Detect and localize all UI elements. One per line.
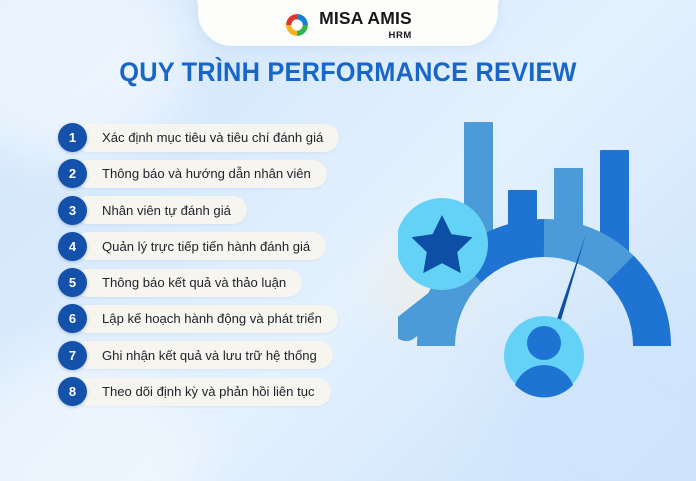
step-pill: Lập kế hoạch hành động và phát triển bbox=[74, 305, 338, 333]
list-item: 4 Quản lý trực tiếp tiến hành đánh giá bbox=[58, 230, 398, 263]
list-item: 3 Nhân viên tự đánh giá bbox=[58, 194, 398, 227]
step-pill: Thông báo và hướng dẫn nhân viên bbox=[74, 160, 327, 188]
step-pill: Ghi nhận kết quả và lưu trữ hệ thống bbox=[74, 341, 333, 369]
brand-banner: MISA AMIS HRM bbox=[198, 0, 498, 46]
list-item: 7 Ghi nhận kết quả và lưu trữ hệ thống bbox=[58, 339, 398, 372]
list-item: 2 Thông báo và hướng dẫn nhân viên bbox=[58, 157, 398, 190]
infographic-poster: MISA AMIS HRM QUY TRÌNH PERFORMANCE REVI… bbox=[0, 0, 696, 481]
step-label: Xác định mục tiêu và tiêu chí đánh giá bbox=[102, 130, 323, 145]
brand-sub: HRM bbox=[389, 31, 412, 41]
gauge-segment-3 bbox=[544, 238, 620, 269]
step-label: Thông báo và hướng dẫn nhân viên bbox=[102, 166, 311, 181]
misa-swirl-logo-icon bbox=[284, 12, 310, 38]
brand-text: MISA AMIS HRM bbox=[319, 10, 412, 40]
page-title: QUY TRÌNH PERFORMANCE REVIEW bbox=[21, 57, 675, 88]
step-label: Theo dõi định kỳ và phản hồi liên tục bbox=[102, 384, 315, 399]
magnifier-star-icon bbox=[398, 198, 488, 290]
illustration-svg bbox=[398, 104, 690, 410]
step-number-badge: 7 bbox=[58, 341, 87, 370]
list-item: 5 Thông báo kết quả và thảo luận bbox=[58, 266, 398, 299]
person-avatar-icon bbox=[504, 316, 584, 397]
performance-gauge-illustration bbox=[398, 104, 690, 410]
step-label: Lập kế hoạch hành động và phát triển bbox=[102, 311, 322, 326]
list-item: 8 Theo dõi định kỳ và phản hồi liên tục bbox=[58, 375, 398, 408]
step-number-badge: 5 bbox=[58, 268, 87, 297]
gauge-segment-4 bbox=[620, 269, 652, 346]
list-item: 1 Xác định mục tiêu và tiêu chí đánh giá bbox=[58, 121, 398, 154]
step-pill: Nhân viên tự đánh giá bbox=[74, 196, 247, 224]
step-label: Ghi nhận kết quả và lưu trữ hệ thống bbox=[102, 348, 317, 363]
step-pill: Xác định mục tiêu và tiêu chí đánh giá bbox=[74, 124, 339, 152]
step-pill: Theo dõi định kỳ và phản hồi liên tục bbox=[74, 378, 331, 406]
avatar-head bbox=[527, 326, 561, 360]
step-number-badge: 1 bbox=[58, 123, 87, 152]
step-number-badge: 4 bbox=[58, 232, 87, 261]
step-label: Thông báo kết quả và thảo luận bbox=[102, 275, 286, 290]
step-label: Quản lý trực tiếp tiến hành đánh giá bbox=[102, 239, 310, 254]
step-number-badge: 3 bbox=[58, 196, 87, 225]
brand-name: MISA AMIS bbox=[319, 10, 412, 28]
steps-list: 1 Xác định mục tiêu và tiêu chí đánh giá… bbox=[58, 121, 398, 411]
step-number-badge: 8 bbox=[58, 377, 87, 406]
brand-lockup: MISA AMIS HRM bbox=[198, 10, 498, 40]
list-item: 6 Lập kế hoạch hành động và phát triển bbox=[58, 302, 398, 335]
step-pill: Quản lý trực tiếp tiến hành đánh giá bbox=[74, 232, 326, 260]
step-pill: Thông báo kết quả và thảo luận bbox=[74, 269, 302, 297]
step-label: Nhân viên tự đánh giá bbox=[102, 203, 231, 218]
